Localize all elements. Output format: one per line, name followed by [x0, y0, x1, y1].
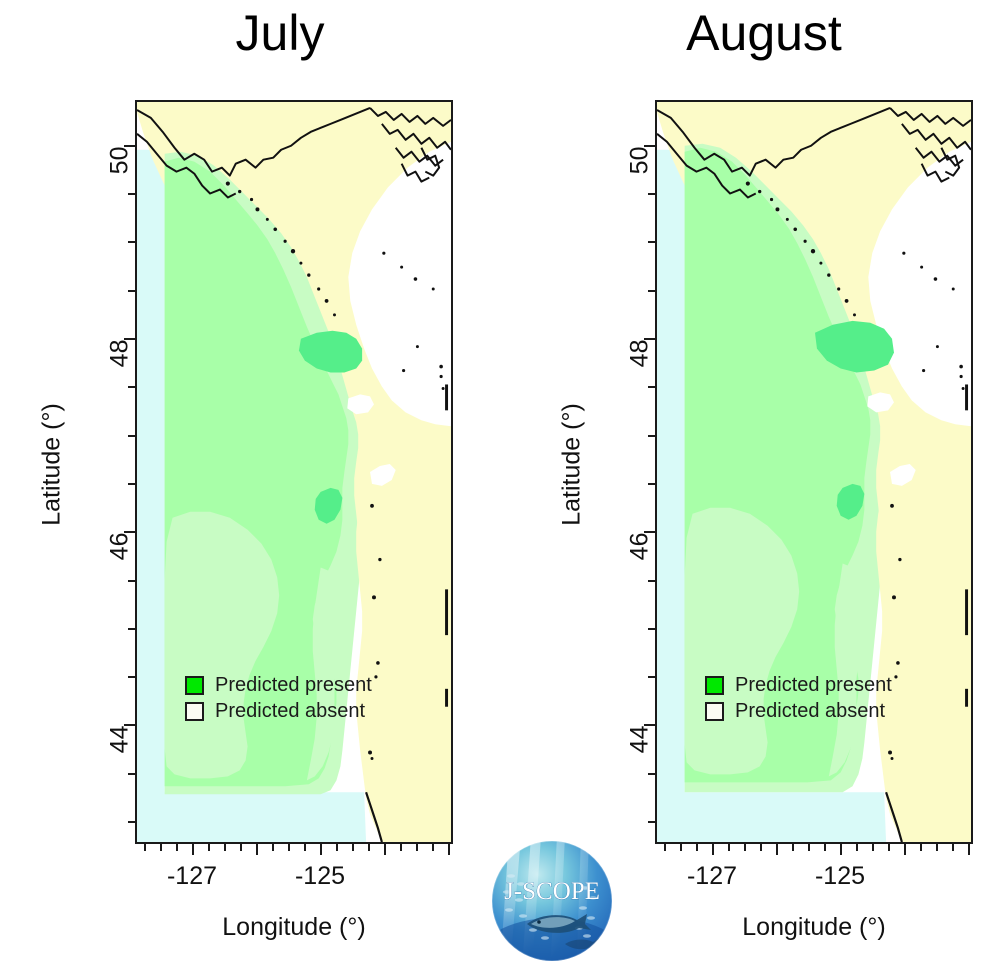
habitat-map-august — [657, 102, 971, 842]
legend-label-absent: Predicted absent — [215, 698, 365, 724]
habitat-map-july — [137, 102, 451, 842]
y-axis-title-august: Latitude (°) — [558, 385, 587, 545]
ocean-nodata-south-july — [137, 792, 366, 842]
ocean-nodata-west-july — [137, 150, 165, 842]
panel-august: August 50 48 46 44 Latitude (°) — [500, 0, 1000, 968]
ocean-nodata-west-august — [657, 150, 685, 842]
y-tick-label-50-august: 50 — [626, 147, 655, 207]
jscope-logo: J-SCOPE — [487, 836, 617, 966]
x-axis-title-july: Longitude (°) — [154, 913, 434, 942]
y-axis-title-july: Latitude (°) — [38, 385, 67, 545]
y-tick-label-50-july: 50 — [106, 147, 135, 207]
y-tick-label-48-july: 48 — [106, 340, 135, 400]
legend-swatch-present-icon — [705, 676, 724, 695]
y-tick-label-44-july: 44 — [106, 726, 135, 786]
panel-title-august: August — [500, 8, 1000, 58]
legend-swatch-absent-icon — [705, 702, 724, 721]
y-tick-label-46-july: 46 — [106, 533, 135, 593]
y-tick-label-46-august: 46 — [626, 533, 655, 593]
legend-label-present: Predicted present — [735, 672, 892, 698]
legend-item-absent-august: Predicted absent — [705, 698, 892, 724]
land-wa-or-coast-july — [356, 426, 451, 842]
legend-label-absent: Predicted absent — [735, 698, 885, 724]
x-tick-label-127-july: -127 — [152, 862, 232, 891]
x-axis-title-august: Longitude (°) — [674, 913, 954, 942]
legend-swatch-present-icon — [185, 676, 204, 695]
y-tick-label-48-august: 48 — [626, 340, 655, 400]
logo-text: J-SCOPE — [504, 878, 600, 905]
jscope-logo-graphic: J-SCOPE — [487, 836, 617, 966]
legend-swatch-absent-icon — [185, 702, 204, 721]
x-tick-label-125-august: -125 — [800, 862, 880, 891]
figure-root: July 50 48 46 44 Latitude (°) — [0, 0, 1000, 968]
map-plot-july[interactable]: Predicted present Predicted absent — [135, 100, 453, 844]
land-wa-or-coast-august — [876, 426, 971, 842]
x-tick-label-127-august: -127 — [672, 862, 752, 891]
legend-item-present-august: Predicted present — [705, 672, 892, 698]
legend-item-absent-july: Predicted absent — [185, 698, 372, 724]
legend-july: Predicted present Predicted absent — [185, 672, 372, 725]
legend-label-present: Predicted present — [215, 672, 372, 698]
legend-item-present-july: Predicted present — [185, 672, 372, 698]
panel-july: July 50 48 46 44 Latitude (°) — [0, 0, 500, 968]
legend-august: Predicted present Predicted absent — [705, 672, 892, 725]
y-tick-label-44-august: 44 — [626, 726, 655, 786]
x-tick-label-125-july: -125 — [280, 862, 360, 891]
map-plot-august[interactable]: Predicted present Predicted absent — [655, 100, 973, 844]
panel-title-july: July — [0, 8, 500, 58]
ocean-nodata-south-august — [657, 792, 886, 842]
